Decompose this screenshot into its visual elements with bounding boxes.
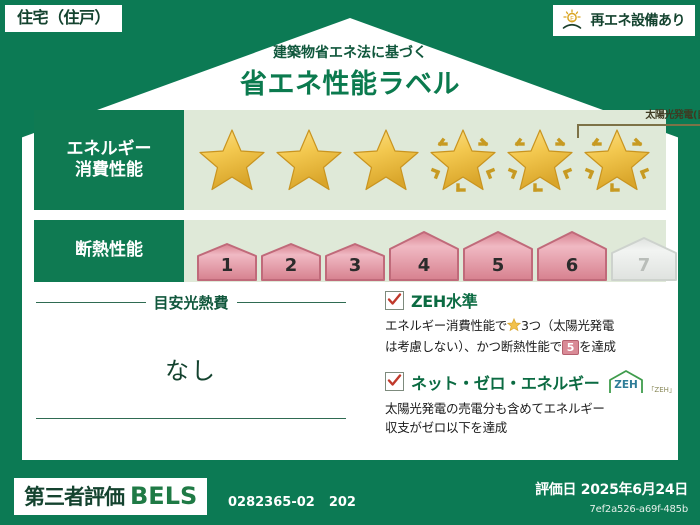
star-icon — [584, 128, 650, 192]
zeh-desc-part4: を達成 — [579, 339, 616, 354]
zeh-desc-part2: 3つ（太陽光発電 — [521, 318, 614, 333]
check-icon — [387, 292, 402, 307]
bels-jp-label: 第三者評価 — [24, 481, 124, 511]
zeh-standard-title: ZEH水準 — [411, 288, 477, 312]
insulation-performance-row: 断熱性能 1234567 — [34, 220, 666, 282]
energy-label-line1: エネルギー — [67, 139, 152, 160]
insulation-level-number: 7 — [610, 255, 678, 276]
insulation-level-4: 4 — [388, 230, 460, 282]
insulation-level-6: 6 — [536, 230, 608, 282]
sun-icon: E — [561, 9, 585, 31]
cert-number-value: 0282365-02 — [228, 495, 315, 510]
insulation-level-number: 2 — [260, 255, 322, 276]
zeh-desc-part3: は考慮しない）、かつ断熱性能で — [385, 339, 562, 354]
insulation-level-5: 5 — [462, 230, 534, 282]
insulation-level-scale: 1234567 — [184, 220, 666, 282]
certificate-number: 0282365-02202 — [228, 495, 370, 510]
evaluation-date: 評価日 2025年6月24日 — [535, 479, 688, 499]
insulation-level-3: 3 — [324, 242, 386, 282]
svg-text:E: E — [570, 15, 574, 22]
star-icon — [430, 128, 496, 192]
building-type-label: 住宅（住戸） — [17, 8, 110, 27]
evaluation-date-value: 2025年6月24日 — [581, 482, 688, 498]
net-zero-description: 太陽光発電の売電分も含めてエネルギー 収支がゼロ以下を達成 — [385, 399, 667, 438]
utility-cost-heading-text: 目安光熱費 — [154, 292, 229, 313]
energy-stars-panel: 太陽光発電(自家消費)分 — [184, 110, 666, 210]
zeh-standard-description: エネルギー消費性能で3つ（太陽光発電 は考慮しない）、かつ断熱性能で5を達成 — [385, 316, 667, 357]
net-zero-desc-line1: 太陽光発電の売電分も含めてエネルギー — [385, 401, 605, 416]
cert-number-suffix: 202 — [329, 495, 356, 510]
star-icon — [507, 128, 573, 192]
star-5 — [502, 120, 577, 200]
mini-star-icon — [507, 318, 521, 337]
energy-performance-label: エネルギー 消費性能 — [34, 110, 184, 210]
net-zero-checkbox — [385, 372, 404, 391]
heading-rule-right — [237, 302, 347, 303]
svg-text:ZEH: ZEH — [615, 379, 639, 391]
insulation-level-1: 1 — [196, 242, 258, 282]
energy-performance-row: エネルギー 消費性能 太陽光発電(自家消費)分 — [34, 110, 666, 210]
star-icon — [353, 128, 419, 192]
net-zero-title: ネット・ゼロ・エネルギー — [411, 370, 599, 394]
net-zero-energy-item: ネット・ゼロ・エネルギー ZEH 「ZEH」 — [385, 369, 667, 395]
title-subtitle: 建築物省エネ法に基づく — [0, 42, 700, 62]
net-zero-desc-line2: 収支がゼロ以下を達成 — [385, 420, 507, 435]
star-3 — [348, 120, 423, 200]
energy-label-line2: 消費性能 — [75, 160, 143, 181]
bels-label: 住宅（住戸） E 再エネ設備あり 建築物省エネ法に基づく 省エネ性能ラベル — [0, 0, 700, 525]
insulation-level-number: 6 — [536, 255, 608, 276]
star-6 — [579, 120, 654, 200]
bels-badge: 第三者評価 BELS — [14, 478, 207, 515]
utility-cost-block: 目安光熱費 なし — [36, 292, 346, 386]
zeh-logo: ZEH 「ZEH」 — [606, 369, 675, 395]
zeh-standard-item: ZEH水準 — [385, 288, 667, 312]
renewable-energy-label: 再エネ設備あり — [591, 10, 686, 30]
insulation-level-number: 4 — [388, 255, 460, 276]
insulation-performance-label: 断熱性能 — [34, 220, 184, 282]
utility-cost-heading: 目安光熱費 — [36, 292, 346, 313]
insulation-level-7: 7 — [610, 236, 678, 282]
star-1 — [194, 120, 269, 200]
insulation-label-text: 断熱性能 — [75, 240, 143, 261]
evaluation-date-label: 評価日 — [535, 482, 576, 498]
star-2 — [271, 120, 346, 200]
renewable-energy-chip: E 再エネ設備あり — [552, 4, 697, 37]
utility-cost-value: なし — [36, 351, 346, 386]
star-4 — [425, 120, 500, 200]
bels-en-label: BELS — [130, 482, 197, 510]
utility-cost-bottom-rule — [36, 418, 346, 419]
document-uuid: 7ef2a526-a69f-485b — [590, 504, 689, 515]
insulation-level-number: 3 — [324, 255, 386, 276]
insulation-level-2: 2 — [260, 242, 322, 282]
insulation-levels-panel: 1234567 — [184, 220, 666, 282]
heading-rule-left — [36, 302, 146, 303]
building-type-chip: 住宅（住戸） — [4, 4, 123, 33]
star-icon — [199, 128, 265, 192]
zeh-criteria-panel: ZEH水準 エネルギー消費性能で3つ（太陽光発電 は考慮しない）、かつ断熱性能で… — [385, 288, 667, 438]
zeh-standard-checkbox — [385, 291, 404, 310]
insulation-level-number: 5 — [462, 255, 534, 276]
zeh-logo-sub: 「ZEH」 — [647, 385, 675, 395]
zeh-desc-part1: エネルギー消費性能で — [385, 318, 507, 333]
insulation-level-number: 1 — [196, 255, 258, 276]
star-icon — [276, 128, 342, 192]
insulation-level-badge: 5 — [562, 340, 579, 355]
check-icon — [387, 373, 402, 388]
star-rating — [184, 110, 666, 210]
title-main: 省エネ性能ラベル — [0, 62, 700, 101]
